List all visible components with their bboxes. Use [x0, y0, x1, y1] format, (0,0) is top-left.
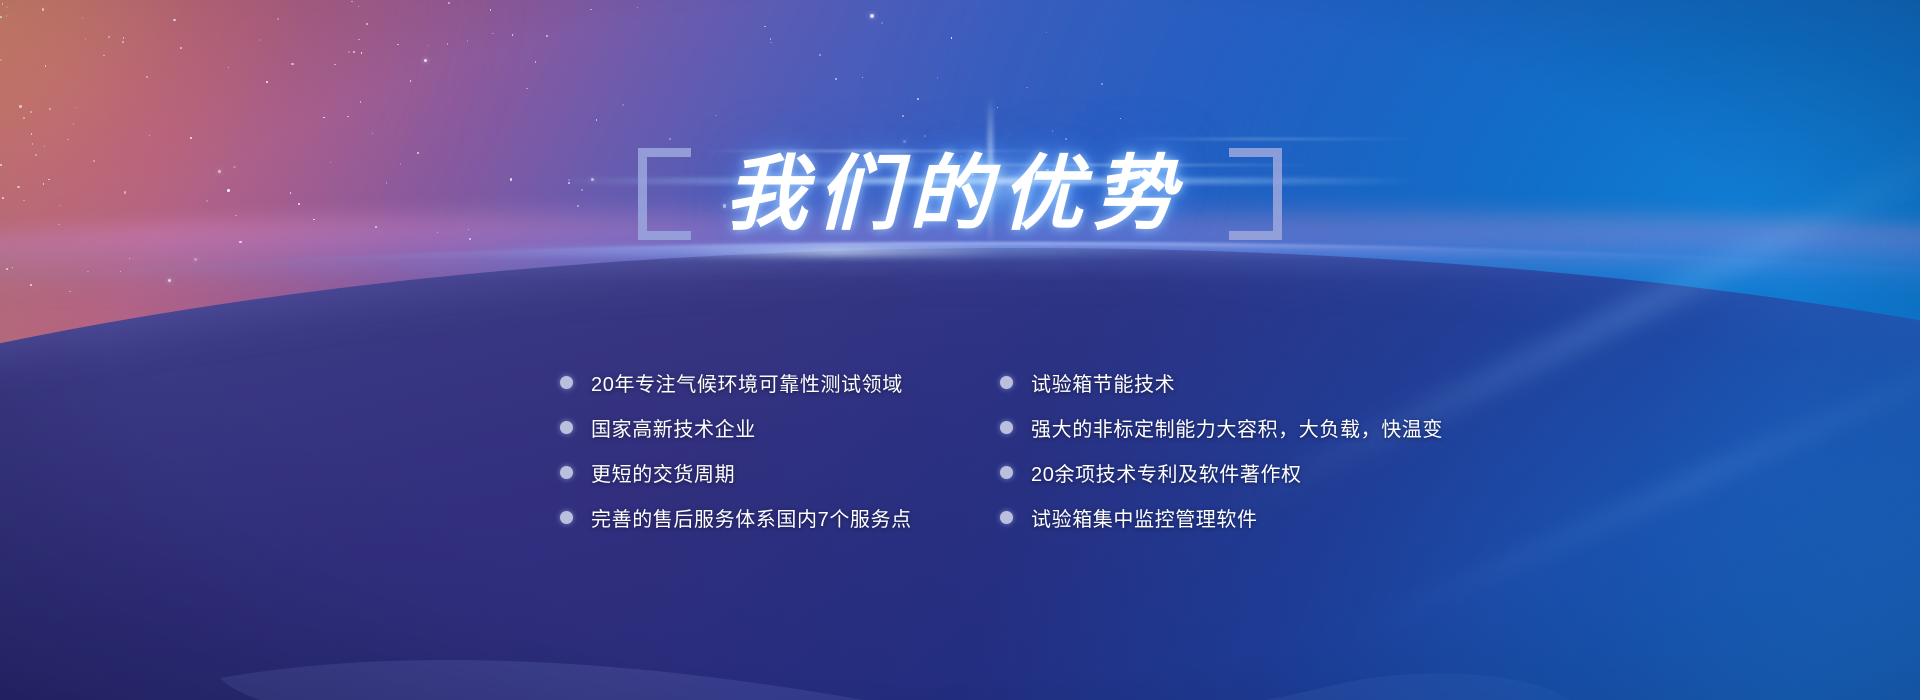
bullet-dot-icon	[560, 421, 573, 434]
list-item-label: 更短的交货周期	[591, 458, 735, 487]
star-speck-icon	[23, 117, 25, 119]
star-speck-icon	[173, 19, 175, 21]
advantages-banner: 我们的优势 20年专注气候环境可靠性测试领域 国家高新技术企业 更短的交货周期 …	[0, 0, 1920, 700]
star-speck-icon	[410, 80, 412, 82]
list-item-label: 试验箱集中监控管理软件	[1031, 503, 1258, 532]
star-speck-icon	[862, 77, 864, 79]
star-speck-icon	[348, 51, 350, 53]
star-speck-icon	[428, 45, 430, 47]
star-speck-icon	[526, 88, 528, 90]
advantages-column-left: 20年专注气候环境可靠性测试领域 国家高新技术企业 更短的交货周期 完善的售后服…	[560, 360, 1000, 540]
star-speck-icon	[108, 36, 110, 38]
star-speck-icon	[228, 67, 230, 69]
star-speck-icon	[75, 107, 77, 109]
star-speck-icon	[334, 64, 336, 66]
list-item: 20余项技术专利及软件著作权	[1000, 450, 1440, 495]
star-speck-icon	[45, 65, 47, 67]
star-speck-icon	[770, 38, 772, 40]
star-speck-icon	[596, 119, 598, 121]
star-speck-icon	[277, 18, 279, 20]
bullet-dot-icon	[560, 466, 573, 479]
star-speck-icon	[447, 43, 449, 45]
star-speck-icon	[82, 17, 84, 19]
star-speck-icon	[512, 34, 514, 36]
list-item-label: 试验箱节能技术	[1031, 368, 1175, 397]
star-speck-icon	[492, 33, 494, 35]
list-item: 试验箱集中监控管理软件	[1000, 495, 1440, 540]
star-speck-icon	[73, 123, 75, 125]
bullet-dot-icon	[560, 376, 573, 389]
star-speck-icon	[870, 14, 873, 17]
star-speck-icon	[1026, 87, 1028, 89]
star-speck-icon	[347, 116, 349, 118]
list-item: 国家高新技术企业	[560, 405, 1000, 450]
star-speck-icon	[590, 9, 592, 11]
list-item: 更短的交货周期	[560, 450, 1000, 495]
list-item-label: 20年专注气候环境可靠性测试领域	[591, 368, 903, 397]
star-speck-icon	[122, 41, 124, 43]
star-speck-icon	[85, 38, 87, 40]
star-speck-icon	[30, 111, 32, 113]
advantages-lists: 20年专注气候环境可靠性测试领域 国家高新技术企业 更短的交货周期 完善的售后服…	[560, 360, 1440, 540]
star-speck-icon	[397, 44, 399, 46]
star-speck-icon	[351, 1, 353, 3]
star-speck-icon	[937, 77, 939, 79]
star-speck-icon	[490, 9, 492, 11]
star-speck-icon	[19, 105, 21, 107]
list-item: 20年专注气候环境可靠性测试领域	[560, 360, 1000, 405]
star-speck-icon	[448, 2, 450, 4]
star-speck-icon	[2, 3, 4, 5]
star-speck-icon	[764, 26, 766, 28]
star-speck-icon	[103, 55, 105, 57]
star-speck-icon	[358, 39, 360, 41]
star-speck-icon	[266, 81, 268, 83]
list-item: 试验箱节能技术	[1000, 360, 1440, 405]
page-title: 我们的优势	[725, 153, 1195, 235]
star-speck-icon	[123, 37, 125, 39]
star-speck-icon	[622, 104, 624, 106]
star-speck-icon	[49, 108, 51, 110]
star-speck-icon	[881, 22, 883, 24]
title-zone: 我们的优势	[0, 128, 1920, 260]
bullet-dot-icon	[560, 511, 573, 524]
star-speck-icon	[951, 37, 953, 39]
star-speck-icon	[42, 8, 44, 10]
star-speck-icon	[535, 61, 537, 63]
list-item-label: 20余项技术专利及软件著作权	[1031, 458, 1302, 487]
star-speck-icon	[770, 42, 772, 44]
star-speck-icon	[997, 107, 999, 109]
bullet-dot-icon	[1000, 376, 1013, 389]
advantages-column-right: 试验箱节能技术 强大的非标定制能力大容积，大负载，快温变 20余项技术专利及软件…	[1000, 360, 1440, 540]
star-speck-icon	[1101, 83, 1103, 85]
list-item-label: 完善的售后服务体系国内7个服务点	[591, 503, 912, 532]
star-speck-icon	[467, 40, 469, 42]
list-item: 强大的非标定制能力大容积，大负载，快温变	[1000, 405, 1440, 450]
star-speck-icon	[146, 76, 148, 78]
banner-title-row: 我们的优势	[638, 128, 1282, 260]
list-item-label: 国家高新技术企业	[591, 413, 756, 442]
star-speck-icon	[819, 54, 821, 56]
star-speck-icon	[835, 78, 837, 80]
star-speck-icon	[353, 51, 355, 53]
star-speck-icon	[6, 6, 8, 8]
star-speck-icon	[259, 39, 261, 41]
bracket-right-icon	[1229, 148, 1282, 240]
star-speck-icon	[361, 52, 363, 54]
star-speck-icon	[917, 98, 919, 100]
star-speck-icon	[323, 117, 325, 119]
star-speck-icon	[6, 15, 8, 17]
star-speck-icon	[358, 6, 360, 8]
star-speck-icon	[424, 59, 427, 62]
star-speck-icon	[0, 59, 2, 61]
bracket-left-icon	[638, 148, 691, 240]
star-speck-icon	[180, 47, 182, 49]
list-item-label: 强大的非标定制能力大容积，大负载，快温变	[1031, 413, 1443, 442]
star-speck-icon	[360, 101, 362, 103]
bullet-dot-icon	[1000, 466, 1013, 479]
star-speck-icon	[291, 63, 293, 65]
bullet-dot-icon	[1000, 511, 1013, 524]
list-item: 完善的售后服务体系国内7个服务点	[560, 495, 1000, 540]
star-speck-icon	[366, 23, 368, 25]
bullet-dot-icon	[1000, 421, 1013, 434]
star-speck-icon	[715, 115, 717, 117]
star-speck-icon	[1046, 32, 1048, 34]
star-speck-icon	[0, 16, 2, 18]
star-speck-icon	[637, 7, 639, 9]
star-speck-icon	[546, 35, 548, 37]
